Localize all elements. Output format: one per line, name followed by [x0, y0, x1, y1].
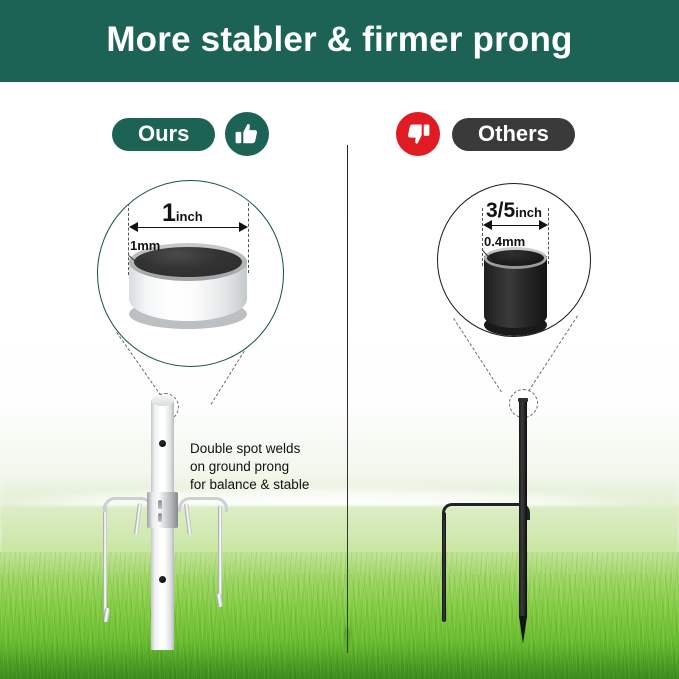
others-dim-guide-right: [548, 208, 549, 264]
magnifier-left-content: 1inch 1mm: [98, 181, 283, 366]
others-tube-inner-hole: [487, 250, 544, 266]
others-wall-thickness-label: 0.4mm: [484, 234, 525, 249]
grass-shadow-layer: [0, 642, 679, 679]
thumbs-up-icon: [225, 112, 269, 156]
ours-dim-guide-right: [248, 203, 249, 273]
ours-diameter-value: 1: [162, 199, 176, 227]
ours-annotation-line-1: Double spot welds: [190, 440, 309, 458]
others-stake-rod: [519, 400, 527, 618]
ours-dim-arrow-right: [239, 222, 248, 232]
others-badge-label: Others: [452, 118, 575, 151]
ours-dim-arrow-line: [132, 227, 244, 228]
ours-dim-arrow-left: [129, 222, 138, 232]
others-dim-arrow-line: [486, 225, 544, 226]
ours-spot-weld-lower: [158, 513, 162, 522]
product-comparison-infographic: More stabler & firmer prong Ours: [0, 0, 679, 679]
ours-stake-cap: [151, 395, 174, 406]
others-prong-vertical: [442, 512, 446, 622]
others-diameter-value: 3/5: [486, 199, 515, 222]
header-banner: More stabler & firmer prong: [0, 0, 679, 84]
ours-diameter-unit: inch: [176, 209, 203, 224]
ours-prong-right-vertical: [218, 505, 222, 601]
divider-ground-shadow: [346, 628, 349, 646]
others-diameter-label: 3/5inch: [486, 200, 542, 222]
center-divider: [347, 145, 348, 653]
ours-wall-thickness-label: 1mm: [130, 238, 160, 253]
ours-spot-weld-upper: [158, 500, 162, 509]
magnifier-left: 1inch 1mm: [97, 180, 284, 367]
others-stake-cap: [518, 398, 528, 402]
ours-weld-collar: [147, 492, 178, 528]
ours-stake-hole-top: [159, 440, 166, 447]
ours-annotation-line-2: on ground prong: [190, 458, 309, 476]
thumbs-down-icon: [396, 112, 440, 156]
ours-stake-hole-bottom: [159, 576, 166, 583]
magnifier-right-content: 3/5inch 0.4mm: [438, 184, 590, 336]
others-prong-bend: [442, 503, 530, 520]
ours-badge-group: Ours: [112, 112, 269, 156]
ours-prong-left-bend: [103, 497, 153, 512]
scene-background: [0, 82, 679, 679]
page-title: More stabler & firmer prong: [0, 0, 679, 80]
ours-dim-guide-left: [128, 203, 129, 275]
ours-badge-label: Ours: [112, 118, 215, 151]
others-badge-group: Others: [396, 112, 575, 156]
magnifier-right: 3/5inch 0.4mm: [437, 183, 591, 337]
ours-annotation-line-3: for balance & stable: [190, 476, 309, 494]
ours-prong-left-vertical: [103, 505, 107, 615]
others-diameter-unit: inch: [515, 205, 542, 220]
ours-annotation: Double spot welds on ground prong for ba…: [190, 440, 309, 494]
others-stake-tip: [519, 616, 527, 644]
others-dim-guide-left: [482, 208, 483, 266]
ours-diameter-label: 1inch: [162, 201, 203, 226]
